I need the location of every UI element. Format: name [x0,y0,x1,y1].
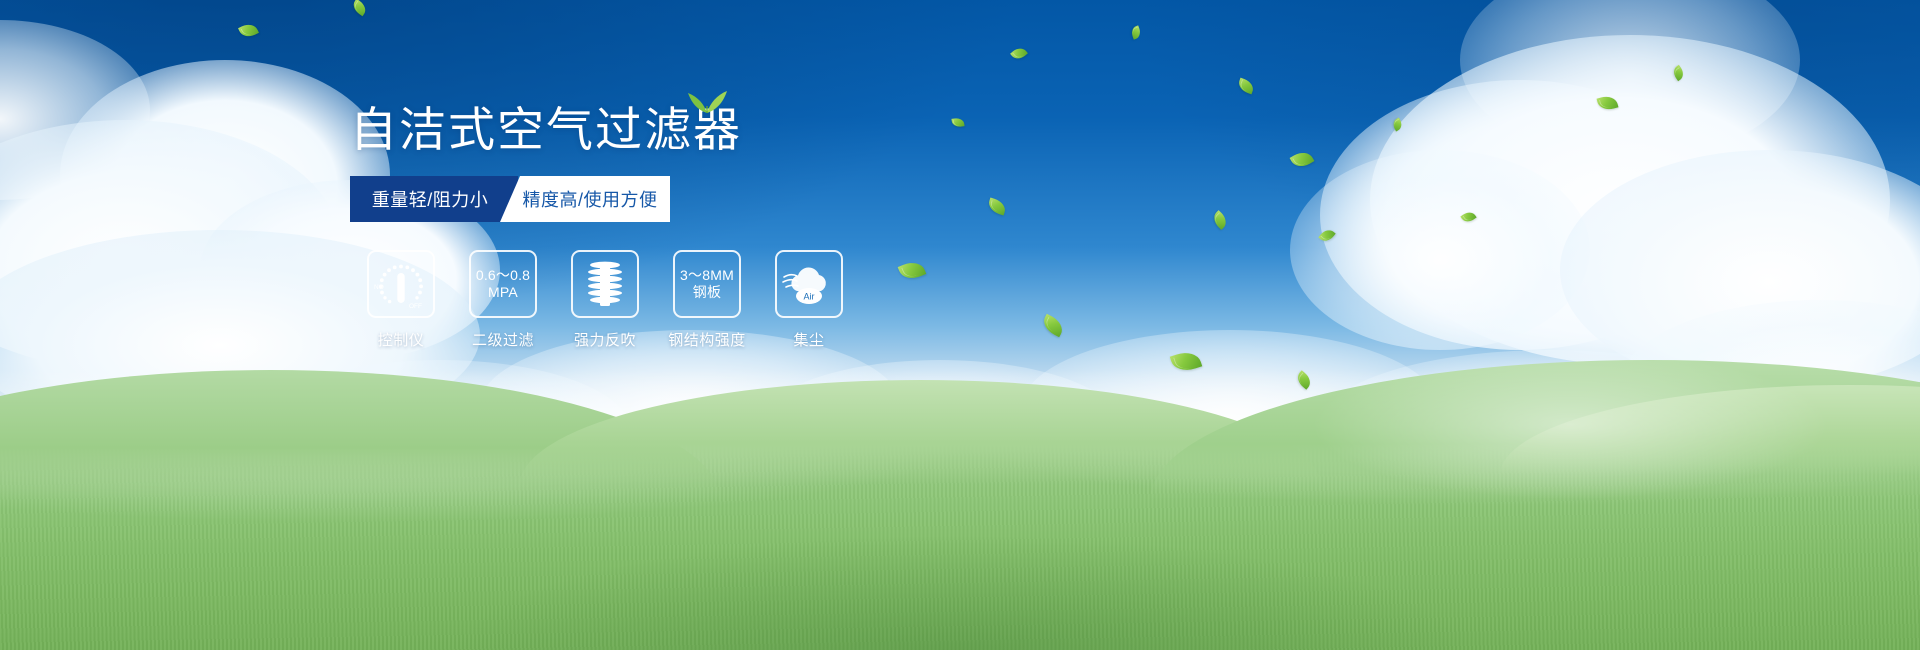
banner-content: 自洁式空气过滤器 重量轻/阻力小 精度高/使用方便 [350,100,870,350]
leaf-icon [1671,65,1687,81]
tab-highprecision-easyuse[interactable]: 精度高/使用方便 [500,176,670,222]
leaf-icon [1318,227,1335,245]
grass-field [0,425,1920,650]
cloud-shape [1290,150,1590,350]
feature-tabs: 重量轻/阻力小 精度高/使用方便 [350,176,672,222]
leaf-icon [1010,45,1028,62]
feature-icon-box: Air [775,250,843,318]
leaf-icon [350,0,369,16]
feature-list: NO OFF 控制仪 0.6～0.8 MPA 二级过滤 [350,250,870,350]
leaf-icon [1294,370,1314,389]
feature-item-dust-collection[interactable]: Air 集尘 [758,250,860,350]
cloud-shape [1320,80,1720,350]
feature-label: 集尘 [758,329,860,350]
leaf-icon [1170,348,1203,375]
feature-item-two-stage-filtration[interactable]: 0.6～0.8 MPA 二级过滤 [452,250,554,350]
cloud-shape [0,20,150,200]
filter-cartridge-icon [580,258,630,310]
hero-banner: 自洁式空气过滤器 重量轻/阻力小 精度高/使用方便 [0,0,1920,650]
feature-item-steel-strength[interactable]: 3～8MM 钢板 钢结构强度 [656,250,758,350]
feature-label: 二级过滤 [452,329,554,350]
steel-material: 钢板 [680,284,734,301]
leaf-icon [951,117,964,128]
air-cloud-icon: Air [782,261,836,307]
feature-item-strong-backblow[interactable]: 强力反吹 [554,250,656,350]
feature-icon-box: 3～8MM 钢板 [673,250,741,318]
cloud-shape [0,120,340,370]
leaf-icon [1391,118,1404,132]
cloud-shape [1460,0,1800,160]
leaf-icon [1130,25,1143,39]
feature-label: 强力反吹 [554,329,656,350]
leaf-icon [1210,210,1230,230]
leaf-icon [1236,78,1255,95]
steel-plate-text-icon: 3～8MM 钢板 [680,267,734,301]
feature-icon-box: 0.6～0.8 MPA [469,250,537,318]
pressure-text-icon: 0.6～0.8 MPA [476,267,530,301]
tab-lightweight-lowresistance[interactable]: 重量轻/阻力小 [350,176,518,222]
feature-icon-box: NO OFF [367,250,435,318]
feature-label: 钢结构强度 [656,329,758,350]
leaf-icon [1040,314,1066,338]
leaf-icon [1460,209,1476,225]
control-dial-icon: NO OFF [373,256,429,312]
cloud-shape [1370,35,1890,365]
leaf-icon [238,21,259,40]
tab-label: 重量轻/阻力小 [372,186,489,212]
dial-label-off: OFF [409,303,422,310]
page-title: 自洁式空气过滤器 [350,100,870,162]
leaf-icon [986,198,1007,216]
cloud-shape [1560,150,1920,390]
title-row: 自洁式空气过滤器 [350,100,870,162]
tab-label: 精度高/使用方便 [522,186,657,212]
dial-label-no: NO [374,284,384,291]
air-label: Air [804,292,815,302]
pressure-unit: MPA [476,284,530,301]
leaf-sprig-icon [684,88,730,114]
leaf-icon [1597,94,1619,112]
cloud-shape [60,60,390,290]
pressure-value: 0.6～0.8 [476,267,530,284]
feature-item-control-instrument[interactable]: NO OFF 控制仪 [350,250,452,350]
leaf-icon [898,258,927,283]
leaf-icon [1290,148,1315,171]
steel-thickness: 3～8MM [680,267,734,284]
feature-label: 控制仪 [350,329,452,350]
feature-icon-box [571,250,639,318]
